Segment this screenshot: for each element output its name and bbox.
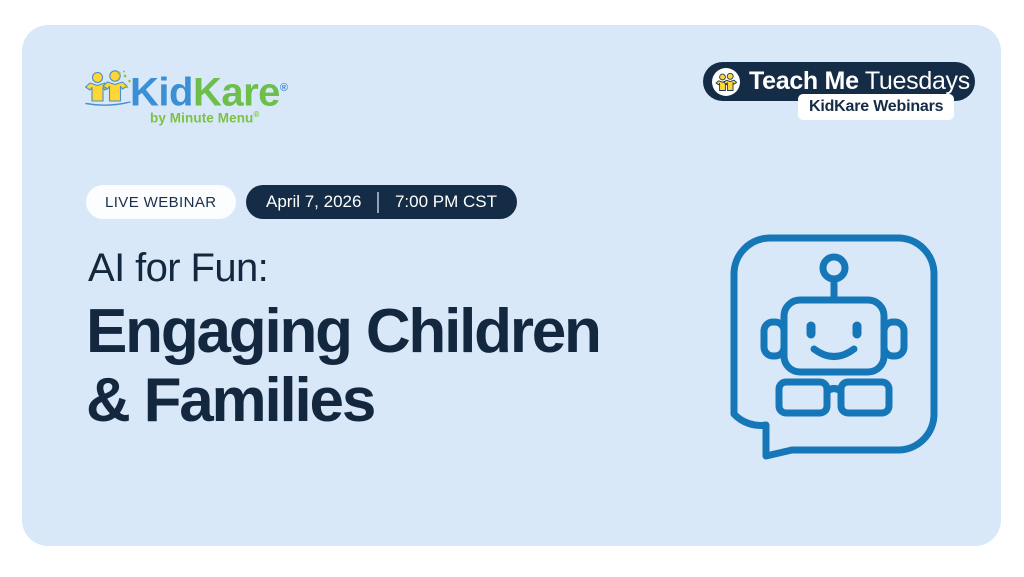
kidkare-children-icon bbox=[712, 68, 740, 96]
page-title: Engaging Children & Families bbox=[86, 297, 600, 435]
kidkare-tagline: by Minute Menu® bbox=[150, 110, 259, 126]
webinar-time: 7:00 PM CST bbox=[395, 192, 497, 212]
tagline-text: by Minute Menu bbox=[150, 111, 253, 126]
logo-kare: Kare bbox=[193, 70, 280, 114]
promo-graphic: KidKare® by Minute Menu® Teach Me Tuesda… bbox=[0, 0, 1024, 577]
badge-title: Teach Me Tuesdays bbox=[749, 68, 970, 95]
badge-title-light: Tuesdays bbox=[865, 67, 970, 95]
kidkare-children-icon bbox=[84, 70, 134, 108]
live-webinar-badge: LIVE WEBINAR bbox=[86, 185, 236, 219]
headline-line-1: Engaging Children bbox=[86, 297, 600, 366]
pill-divider bbox=[377, 192, 379, 213]
badge-title-bold: Teach Me bbox=[749, 67, 859, 95]
kidkare-logo: KidKare® by Minute Menu® bbox=[84, 66, 284, 128]
badge-subtitle: KidKare Webinars bbox=[798, 94, 954, 120]
robot-speech-bubble-icon bbox=[726, 230, 942, 462]
registered-mark: ® bbox=[280, 82, 288, 94]
webinar-date: April 7, 2026 bbox=[266, 192, 361, 212]
badge-logo-circle bbox=[712, 68, 740, 96]
tagline-registered-mark: ® bbox=[253, 110, 259, 119]
logo-kid: Kid bbox=[130, 70, 193, 114]
date-time-pill: April 7, 2026 7:00 PM CST bbox=[246, 185, 517, 219]
kidkare-wordmark: KidKare® bbox=[130, 66, 288, 114]
headline-eyebrow: AI for Fun: bbox=[88, 246, 268, 291]
headline-line-2: & Families bbox=[86, 366, 600, 435]
